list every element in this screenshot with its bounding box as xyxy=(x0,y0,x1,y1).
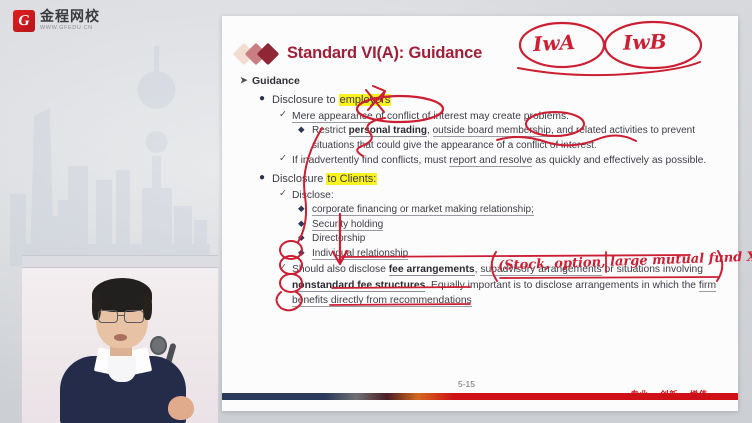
restrict-a: Restrict xyxy=(312,125,349,136)
restrict-outside-board: outside board membership xyxy=(433,125,551,137)
microphone-icon xyxy=(150,336,167,355)
list-item-restrict-personal-trading: ◆ Restrict personal trading, outside boa… xyxy=(312,124,722,153)
brand-logo: G 金程网校 WWW.GFEDU.CN xyxy=(13,10,100,32)
outline-heading: ➤ Guidance xyxy=(252,74,722,90)
disclosure-clients-highlight: to Clients: xyxy=(326,173,377,185)
dot-bullet-icon: ● xyxy=(259,91,265,107)
list-item-disclosure-employers: ● Disclosure to employers xyxy=(272,92,722,109)
fee-g: . Equally important is to disclose arran… xyxy=(425,280,699,291)
list-item-corporate-financing: ◆ corporate financing or market making r… xyxy=(312,203,722,218)
instructor-hair-right xyxy=(143,294,152,320)
glasses-right-lens-icon xyxy=(124,310,144,323)
diamond-bullet-icon: ◆ xyxy=(298,246,305,258)
check-bullet-icon: ✓ xyxy=(279,187,287,201)
shanghai-skyline-watermark xyxy=(6,38,221,278)
nonstandard-fee-structures: nonstandard fee structures xyxy=(292,280,425,292)
inadvertent-a: If inadvertently find conflicts, must xyxy=(292,155,449,166)
list-item-security-holding: ◆ Security holding xyxy=(312,218,722,233)
diamond-bullet-icon: ◆ xyxy=(298,217,305,229)
annotation-iwa: IwA xyxy=(532,30,575,56)
slide-footer-tagline: 专业 · 创新 · 增值 xyxy=(631,389,708,400)
inadvertent-c: as quickly and effectively as possible. xyxy=(532,155,706,166)
restrict-personal-trading: personal trading xyxy=(349,125,427,137)
outline-heading-label: Guidance xyxy=(252,75,300,87)
logo-mark-icon: G xyxy=(13,10,35,32)
page-number: 5-15 xyxy=(458,379,475,389)
fee-arrangements: fee arrangements xyxy=(389,264,475,276)
glasses-bridge xyxy=(118,315,124,316)
diamond-decor-icon-3 xyxy=(257,42,280,65)
mere-appearance-rest: of conflict of interest may create probl… xyxy=(373,111,569,122)
disclosure-employers-prefix: Disclosure to xyxy=(272,94,339,106)
arrow-bullet-icon: ➤ xyxy=(240,74,248,88)
disclose-label: Disclose: xyxy=(292,190,334,201)
directorship-label: Directorship xyxy=(312,233,365,244)
list-item-inadvertent-conflicts: ✓ If inadvertently find conflicts, must … xyxy=(292,153,722,168)
list-item-disclosure-clients: ● Disclosure to Clients: xyxy=(272,171,722,188)
annotation-iwb: IwB xyxy=(623,29,667,55)
report-and-resolve: report and resolve xyxy=(449,155,532,167)
security-holding-label: Security holding xyxy=(312,219,383,231)
shirt-front xyxy=(108,356,136,382)
presentation-slide: Standard VI(A): Guidance ➤ Guidance ● Di… xyxy=(222,16,738,411)
corporate-financing-label: corporate financing or market making rel… xyxy=(312,204,534,216)
glasses-left-lens-icon xyxy=(98,310,118,323)
list-item-disclose: ✓ Disclose: xyxy=(292,188,722,203)
instructor-video-inset xyxy=(22,255,218,423)
individual-relationship-label: Individual relationship xyxy=(312,248,408,260)
disclosure-employers-highlight: employers xyxy=(339,94,392,106)
disclosure-clients-prefix: Disclosure xyxy=(272,173,326,185)
whiteboard xyxy=(22,256,218,268)
list-item-directorship: ◆ Directorship xyxy=(312,232,722,247)
logo-name-cn: 金程网校 xyxy=(40,10,100,24)
logo-url: WWW.GFEDU.CN xyxy=(40,26,100,32)
logo-mark-letter: G xyxy=(17,14,31,29)
footer-dash-decor xyxy=(712,394,732,399)
fee-a: Should also disclose xyxy=(292,264,389,275)
dot-bullet-icon: ● xyxy=(259,170,265,186)
mere-appearance-underlined: Mere appearance xyxy=(292,111,373,123)
instructor-hand xyxy=(168,396,194,420)
slide-body: ➤ Guidance ● Disclosure to employers ✓ M… xyxy=(238,74,722,308)
diamond-bullet-icon: ◆ xyxy=(298,202,305,214)
diamond-bullet-icon: ◆ xyxy=(298,123,305,135)
list-item-mere-appearance: ✓ Mere appearance of conflict of interes… xyxy=(292,109,722,124)
diamond-bullet-icon: ◆ xyxy=(298,231,305,243)
logo-text: 金程网校 WWW.GFEDU.CN xyxy=(40,10,100,32)
restrict-c: , xyxy=(427,125,433,136)
instructor-mouth xyxy=(114,334,127,341)
page-title: Standard VI(A): Guidance xyxy=(287,44,482,63)
check-bullet-icon: ✓ xyxy=(279,152,287,166)
check-bullet-icon: ✓ xyxy=(279,108,287,122)
slide-title-row: Standard VI(A): Guidance xyxy=(236,44,482,63)
